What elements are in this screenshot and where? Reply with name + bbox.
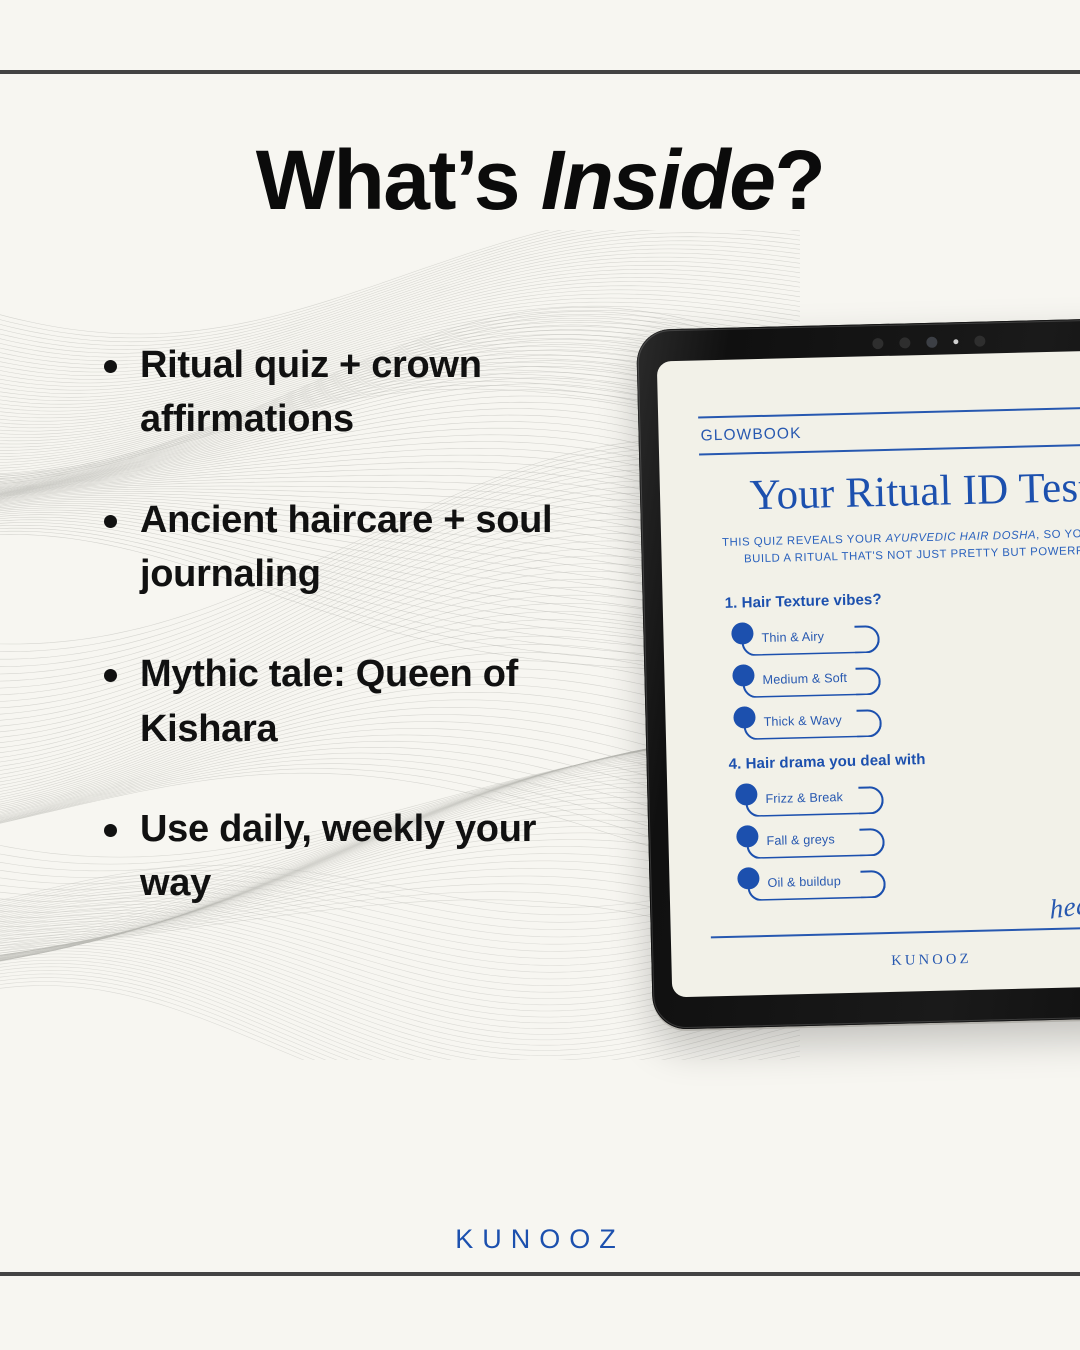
option-row[interactable]: Thick & Wavy xyxy=(733,703,882,744)
page-title-emphasis: Inside xyxy=(541,133,775,227)
option-label: Frizz & Break xyxy=(765,790,843,806)
option-row[interactable]: Frizz & Break xyxy=(735,780,884,821)
radio-button-icon[interactable] xyxy=(732,664,755,687)
document-subtitle: THIS QUIZ REVEALS YOUR AYURVEDIC HAIR DO… xyxy=(701,525,1080,569)
sensor-dot-icon xyxy=(872,338,883,349)
page-title-trail: ? xyxy=(774,133,824,227)
option-row[interactable]: Medium & Soft xyxy=(732,661,881,702)
page-title-lead: What’s xyxy=(256,133,541,227)
sensor-dot-icon xyxy=(899,337,910,348)
radio-button-icon[interactable] xyxy=(731,622,754,645)
indicator-dot-icon xyxy=(953,339,958,344)
bullet-text: Ancient haircare + soul journaling xyxy=(140,493,604,602)
bullet-dot-icon xyxy=(104,360,117,373)
document-meta-left: GLOWBOOK xyxy=(700,425,801,445)
radio-button-icon[interactable] xyxy=(737,867,760,890)
list-item: Mythic tale: Queen of Kishara xyxy=(104,647,604,756)
document-brand-mark: KUNOOZ xyxy=(671,946,1080,976)
option-row[interactable]: Thin & Airy xyxy=(731,619,880,660)
question-4-options: Frizz & Break Fall & greys Oil & buildup xyxy=(735,773,1080,904)
option-row[interactable]: Oil & buildup xyxy=(737,864,886,905)
quiz-document: GLOWBOOK 2025 Your Ritual ID Test THIS Q… xyxy=(657,349,1080,998)
document-title: Your Ritual ID Test xyxy=(700,462,1080,522)
feature-bullet-list: Ritual quiz + crown affirmations Ancient… xyxy=(104,338,604,957)
subtitle-italic: AYURVEDIC HAIR DOSHA xyxy=(886,530,1037,546)
bullet-text: Ritual quiz + crown affirmations xyxy=(140,338,604,447)
bullet-dot-icon xyxy=(104,669,117,682)
radio-button-icon[interactable] xyxy=(736,825,759,848)
question-4-label: 4. Hair drama you deal with xyxy=(728,745,1080,772)
page-brand-mark: KUNOOZ xyxy=(0,1224,1080,1255)
bullet-dot-icon xyxy=(104,824,117,837)
option-label: Thick & Wavy xyxy=(763,713,842,729)
bullet-text: Mythic tale: Queen of Kishara xyxy=(140,647,604,756)
tablet-screen: GLOWBOOK 2025 Your Ritual ID Test THIS Q… xyxy=(657,349,1080,998)
page-top-rule xyxy=(0,70,1080,74)
bullet-text: Use daily, weekly your way xyxy=(140,802,604,911)
sensor-dot-icon xyxy=(974,335,985,346)
option-row[interactable]: Fall & greys xyxy=(736,822,885,863)
page-title: What’s Inside? xyxy=(0,136,1080,224)
option-label: Fall & greys xyxy=(766,832,835,848)
list-item: Ritual quiz + crown affirmations xyxy=(104,338,604,447)
bullet-dot-icon xyxy=(104,515,117,528)
radio-button-icon[interactable] xyxy=(733,706,756,729)
option-label: Oil & buildup xyxy=(767,874,841,890)
document-footer-rule xyxy=(711,925,1080,938)
list-item: Ancient haircare + soul journaling xyxy=(104,493,604,602)
page-bottom-rule xyxy=(0,1272,1080,1276)
list-item: Use daily, weekly your way xyxy=(104,802,604,911)
tablet-device-mockup: GLOWBOOK 2025 Your Ritual ID Test THIS Q… xyxy=(636,316,1080,1029)
camera-lens-icon xyxy=(926,337,937,348)
radio-button-icon[interactable] xyxy=(735,783,758,806)
option-label: Medium & Soft xyxy=(762,670,847,686)
question-1-options: Thin & Airy Medium & Soft Thick & Wavy xyxy=(731,612,1080,743)
question-1-label: 1. Hair Texture vibes? xyxy=(724,584,1080,611)
option-label: Thin & Airy xyxy=(761,629,824,645)
subtitle-part-1: THIS QUIZ REVEALS YOUR xyxy=(722,533,886,549)
